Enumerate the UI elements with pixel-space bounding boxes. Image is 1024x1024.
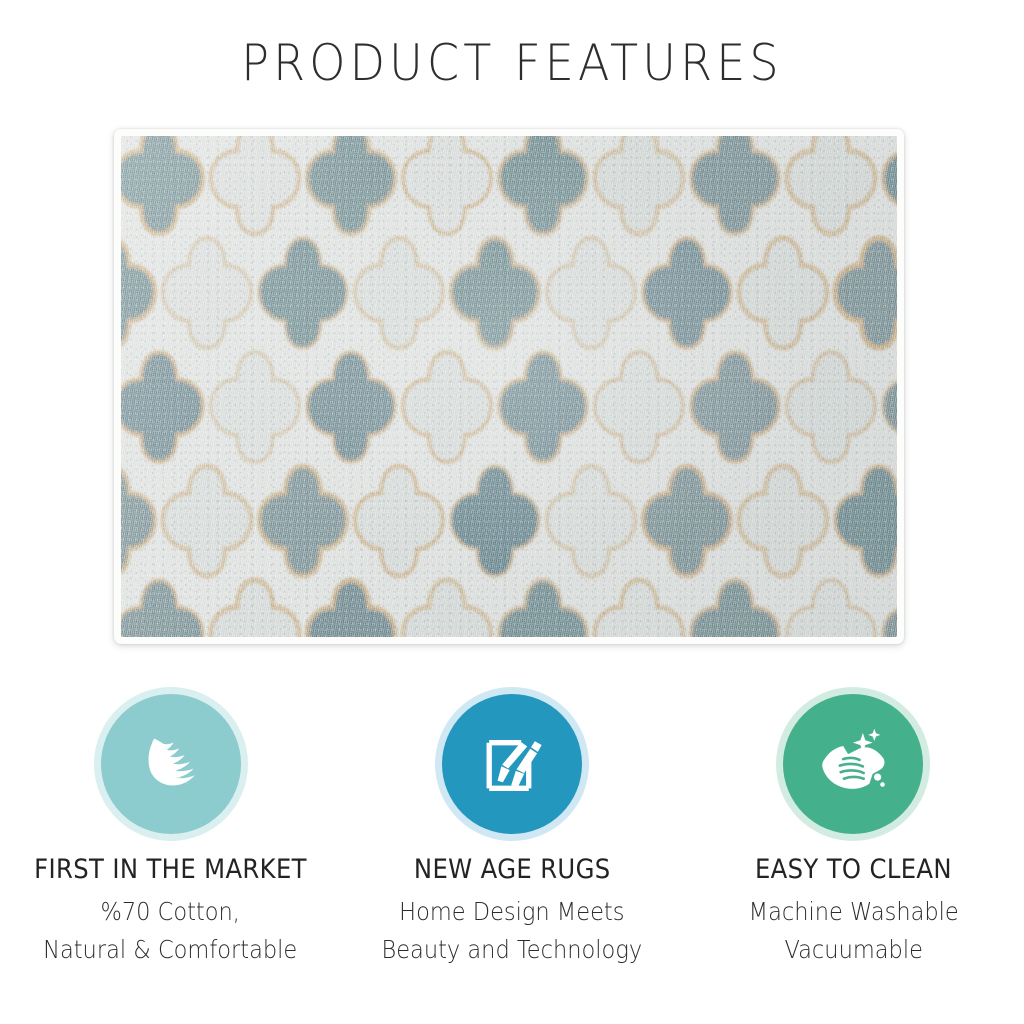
feature-subline: Vacuumable [748,931,958,969]
feature-subline: Home Design Meets [382,893,643,931]
feature-subline: Beauty and Technology [382,931,643,969]
feature-subtext-2: Home Design Meets Beauty and Technology [382,893,643,969]
feature-badge-2 [442,694,582,834]
page-title: PRODUCT FEATURES [41,34,983,92]
rug-surface [121,136,897,637]
feather-icon [132,725,210,803]
feature-heading-3: EASY TO CLEAN [755,854,952,886]
rug-pattern [121,136,897,637]
features-row: FIRST IN THE MARKET %70 Cotton, Natural … [0,694,1024,969]
feature-heading-2: NEW AGE RUGS [414,854,611,886]
feature-badge-1 [101,694,241,834]
feature-subline: Natural & Comfortable [44,931,298,969]
design-sketch-icon [474,726,550,802]
feature-subtext-3: Machine Washable Vacuumable [748,893,958,969]
feature-badge-3 [783,694,923,834]
feature-subtext-1: %70 Cotton, Natural & Comfortable [44,893,298,969]
product-rug-image [114,129,904,644]
feature-subline: Machine Washable [748,893,958,931]
feature-subline: %70 Cotton, [44,893,298,931]
feature-first-in-the-market: FIRST IN THE MARKET %70 Cotton, Natural … [0,694,341,969]
feature-heading-1: FIRST IN THE MARKET [34,854,307,886]
feature-new-age-rugs: NEW AGE RUGS Home Design Meets Beauty an… [341,694,682,969]
cleaning-hand-icon [812,723,894,805]
feature-easy-to-clean: EASY TO CLEAN Machine Washable Vacuumabl… [683,694,1024,969]
